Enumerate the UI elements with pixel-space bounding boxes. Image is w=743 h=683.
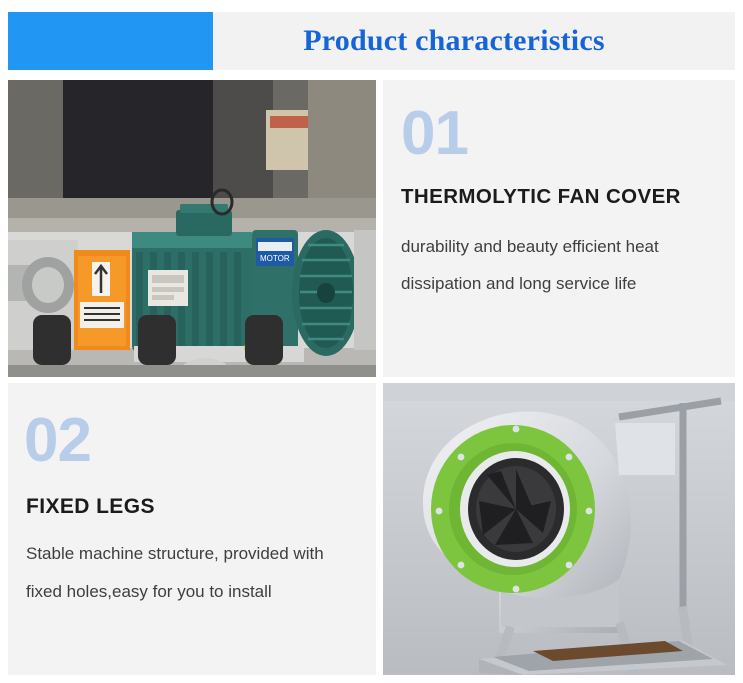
feature-1-body: durability and beauty efficient heat dis…: [401, 228, 723, 302]
page-title: Product characteristics: [303, 24, 604, 58]
product-characteristics-page: Product characteristics: [0, 0, 743, 683]
feature-2-number: 02: [24, 405, 91, 476]
feature-2-body: Stable machine structure, provided with …: [26, 535, 356, 611]
svg-text:MOTOR: MOTOR: [260, 254, 290, 263]
feature-2-image: [383, 383, 735, 675]
header-accent-bar: [8, 12, 213, 70]
feature-2-headline: FIXED LEGS: [26, 495, 155, 519]
blower-frame-photo: [383, 383, 735, 675]
feature-row-1: MOTOR: [8, 80, 735, 377]
page-header: Product characteristics: [8, 12, 735, 70]
feature-card-2: 02 FIXED LEGS Stable machine structure, …: [8, 383, 376, 675]
header-title-container: Product characteristics: [213, 12, 735, 70]
feature-1-headline: THERMOLYTIC FAN COVER: [401, 185, 681, 209]
feature-card-1: 01 THERMOLYTIC FAN COVER durability and …: [383, 80, 735, 377]
feature-1-number: 01: [401, 98, 468, 169]
feature-1-image: MOTOR: [8, 80, 376, 377]
fan-motor-photo: MOTOR: [8, 80, 376, 377]
feature-row-2: 02 FIXED LEGS Stable machine structure, …: [8, 383, 735, 675]
